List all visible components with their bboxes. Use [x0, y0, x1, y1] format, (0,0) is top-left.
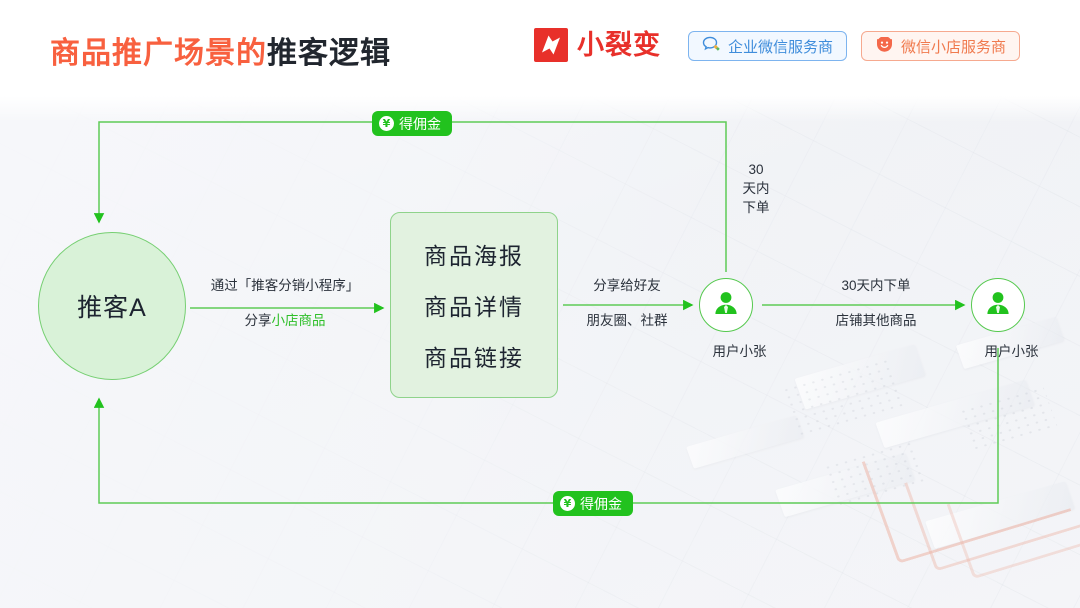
yuan-coin-icon: ¥ — [379, 116, 394, 131]
node-promoter-label: 推客A — [77, 288, 147, 324]
yuan-coin-icon: ¥ — [560, 496, 575, 511]
product-asset-item: 商品海报 — [424, 237, 524, 271]
edge-label-line2: 分享小店商品 — [192, 312, 378, 329]
edge-label-vertical-text: 30天内下单 — [743, 162, 770, 215]
brand-name: 小裂变 — [577, 32, 661, 59]
badge-commission-label: 得佣金 — [399, 114, 441, 134]
yuan-symbol: ¥ — [564, 498, 572, 509]
edge-label-line1: 通过「推客分销小程序」 — [192, 277, 378, 294]
wechat-shop-smile-icon — [875, 37, 894, 56]
product-asset-item: 商品详情 — [424, 288, 524, 322]
badge-label: 企业微信服务商 — [728, 36, 833, 57]
page-header: 商品推广场景的推客逻辑 小裂变 企业微信服务 — [0, 0, 1080, 96]
edge-label-line2-dark: 分享 — [245, 313, 272, 328]
edge-label-line2-green: 小店商品 — [272, 313, 326, 328]
node-user-1[interactable]: 用户小张 — [699, 278, 753, 360]
user-person-icon — [711, 288, 741, 323]
badge-wecom-provider[interactable]: 企业微信服务商 — [688, 31, 847, 61]
edge-label-user1-to-user2: 30天内下单 店铺其他商品 — [790, 277, 962, 329]
wecom-bubble-icon — [702, 36, 721, 57]
node-user-2[interactable]: 用户小张 — [971, 278, 1025, 360]
page-title-accent: 商品推广场景的 — [50, 37, 267, 70]
avatar — [699, 278, 753, 332]
edge-label-line2: 店铺其他商品 — [790, 312, 962, 329]
brand-logo: 小裂变 — [534, 28, 661, 62]
edge-label-vertical-return: 30天内下单 — [742, 160, 770, 217]
node-user-1-label: 用户小张 — [713, 340, 740, 360]
edge-label-promoter-to-box: 通过「推客分销小程序」 分享小店商品 — [192, 277, 378, 329]
badge-commission-label: 得佣金 — [580, 494, 622, 514]
badge-label: 微信小店服务商 — [901, 36, 1006, 57]
yuan-symbol: ¥ — [383, 118, 391, 129]
edge-label-box-to-user1: 分享给好友 朋友圈、社群 — [566, 277, 688, 329]
lightning-logo-icon — [534, 28, 568, 62]
node-promoter[interactable]: 推客A — [38, 232, 186, 380]
edge-label-line1: 分享给好友 — [566, 277, 688, 294]
slide-canvas: 商品推广场景的推客逻辑 小裂变 企业微信服务 — [0, 0, 1080, 608]
badge-wechat-shop-provider[interactable]: 微信小店服务商 — [861, 31, 1020, 61]
badge-commission-top: ¥ 得佣金 — [372, 111, 452, 136]
node-user-2-label: 用户小张 — [985, 340, 1012, 360]
product-asset-item: 商品链接 — [424, 339, 524, 373]
service-badges: 企业微信服务商 微信小店服务商 — [688, 31, 1020, 61]
avatar — [971, 278, 1025, 332]
page-title-dark: 推客逻辑 — [267, 37, 391, 70]
user-person-icon — [983, 288, 1013, 323]
page-title: 商品推广场景的推客逻辑 — [50, 28, 391, 72]
node-product-assets[interactable]: 商品海报 商品详情 商品链接 — [390, 212, 558, 398]
edge-label-line1: 30天内下单 — [790, 277, 962, 294]
edge-label-line2: 朋友圈、社群 — [566, 312, 688, 329]
badge-commission-bottom: ¥ 得佣金 — [553, 491, 633, 516]
